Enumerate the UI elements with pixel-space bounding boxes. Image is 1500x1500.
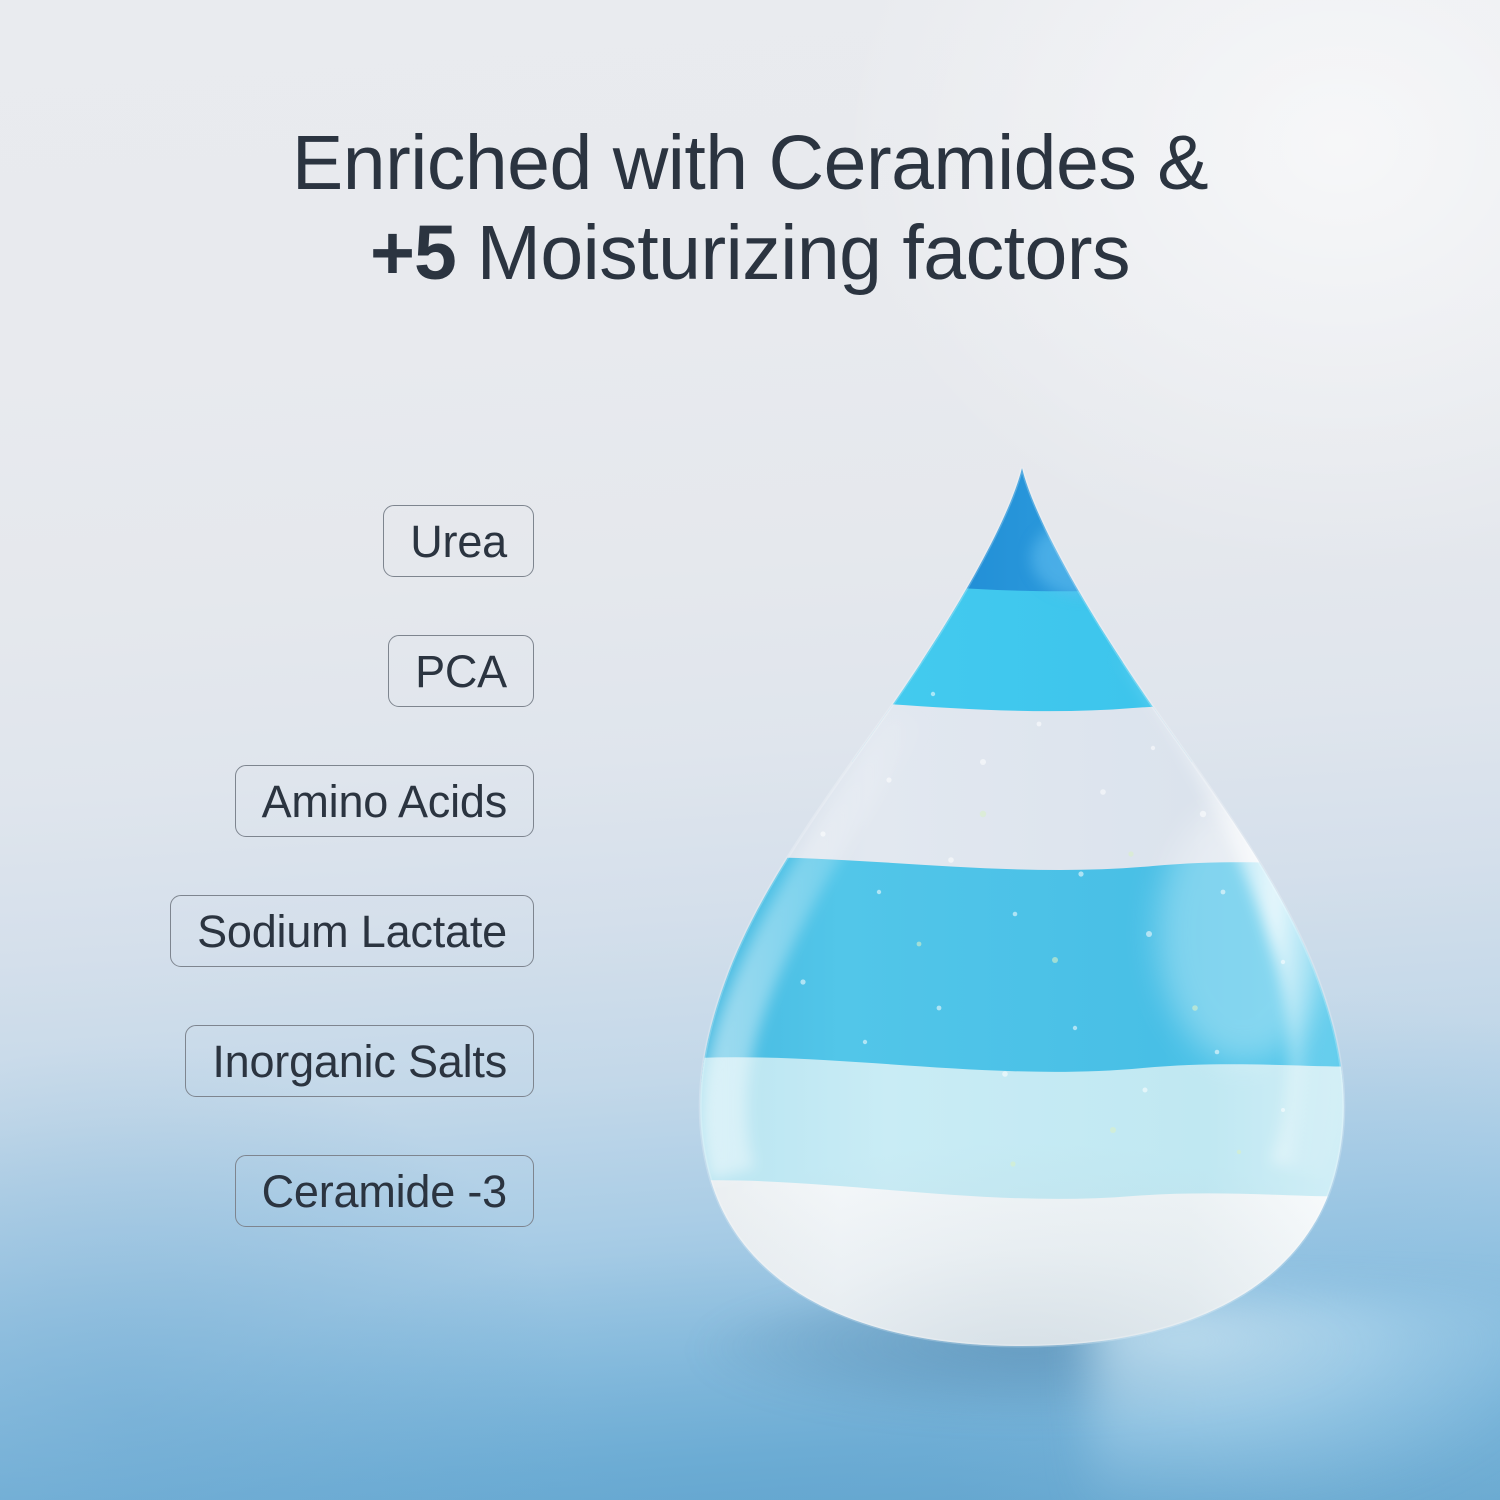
- water-droplet-icon: [683, 462, 1361, 1352]
- ingredient-pill-amino-acids[interactable]: Amino Acids: [235, 765, 534, 837]
- water-droplet-image: [683, 462, 1361, 1352]
- ingredient-list: Urea PCA Amino Acids Sodium Lactate Inor…: [0, 505, 534, 1227]
- page-title: Enriched with Ceramides & +5 Moisturizin…: [0, 118, 1500, 298]
- droplet-body-highlight: [1157, 802, 1329, 1062]
- ingredient-pill-ceramide-3[interactable]: Ceramide -3: [235, 1155, 534, 1227]
- title-line-2: +5 Moisturizing factors: [0, 208, 1500, 298]
- title-line-2-rest: Moisturizing factors: [456, 210, 1130, 296]
- ingredient-pill-urea[interactable]: Urea: [383, 505, 534, 577]
- ingredient-pill-inorganic-salts[interactable]: Inorganic Salts: [185, 1025, 534, 1097]
- droplet-band-pale-lavender: [643, 697, 1403, 882]
- title-line-1: Enriched with Ceramides &: [0, 118, 1500, 208]
- title-emphasis-plus5: +5: [370, 210, 456, 296]
- ingredient-pill-sodium-lactate[interactable]: Sodium Lactate: [170, 895, 534, 967]
- ingredient-pill-pca[interactable]: PCA: [388, 635, 534, 707]
- infographic-canvas: Enriched with Ceramides & +5 Moisturizin…: [0, 0, 1500, 1500]
